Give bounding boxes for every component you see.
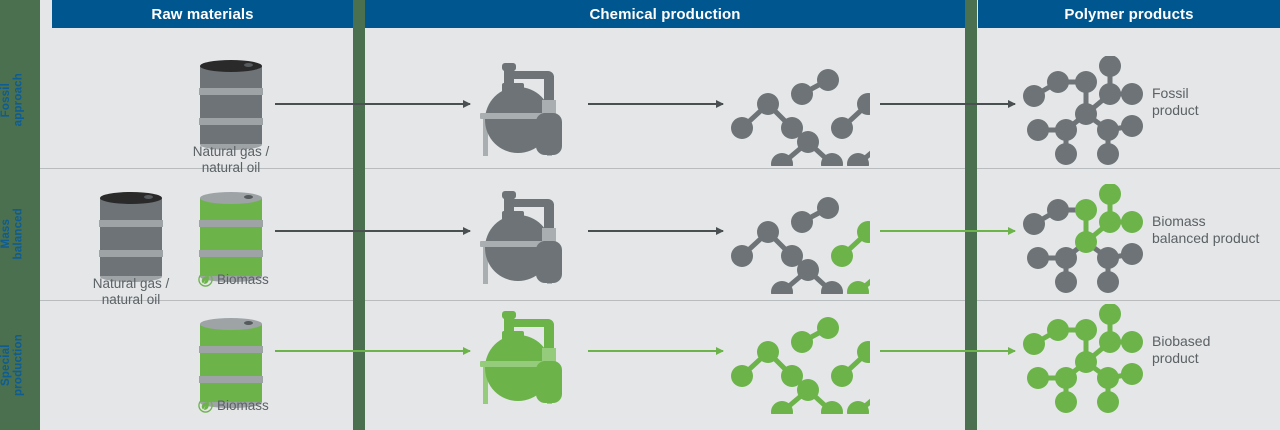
process-diagram: Fossil approach Mass balanced Special pr… (0, 0, 1280, 430)
arrow-right-icon-molecule-to-product (880, 103, 1015, 105)
product-label-fossil-product: Fossil product (1152, 85, 1199, 119)
header-chemical-production: Chemical production (365, 0, 965, 28)
caption-biomass-label: Biomass (217, 272, 269, 287)
leaf-icon (198, 272, 213, 287)
arrow-right-icon-raw-to-chem (275, 103, 470, 105)
arrow-right-icon-molecule-to-product (880, 350, 1015, 352)
reactor-icon-fossil (470, 186, 585, 286)
polymer-icon-biobased-product (1018, 304, 1143, 414)
molecule-icon-fossil (730, 56, 870, 166)
reactor-icon-fossil (470, 58, 585, 158)
molecule-icon-mixed (730, 184, 870, 294)
caption-biomass-label: Biomass (217, 398, 269, 413)
arrow-right-icon-molecule-to-product (880, 230, 1015, 232)
arrow-right-icon-raw-to-chem (275, 230, 470, 232)
barrel-icon-biomass (200, 318, 262, 408)
caption-biomass: Biomass (198, 398, 269, 413)
polymer-icon-fossil-product (1018, 56, 1143, 166)
product-label-biomass-balanced-product: Biomass balanced product (1152, 213, 1259, 247)
row-special-production: Biomass (0, 300, 1280, 430)
polymer-icon-biomass-balanced-product (1018, 184, 1143, 294)
header-polymer-products: Polymer products (978, 0, 1280, 28)
row-mass-balanced: Natural gas / natural oil Biomass (0, 168, 1280, 300)
barrel-icon-natural-gas-oil (200, 60, 262, 150)
arrow-right-icon-raw-to-chem (275, 350, 470, 352)
arrow-right-icon-reactor-to-molecule (588, 230, 723, 232)
header-raw-materials: Raw materials (52, 0, 353, 28)
molecule-icon-bio (730, 304, 870, 414)
arrow-right-icon-reactor-to-molecule (588, 103, 723, 105)
leaf-icon (198, 398, 213, 413)
product-label-biobased-product: Biobased product (1152, 333, 1210, 367)
caption-biomass: Biomass (198, 272, 269, 287)
row-fossil: Natural gas / natural oil (0, 28, 1280, 168)
arrow-right-icon-reactor-to-molecule (588, 350, 723, 352)
barrel-icon-natural-gas-oil (100, 192, 162, 282)
reactor-icon-bio (470, 306, 585, 406)
barrel-icon-biomass (200, 192, 262, 282)
